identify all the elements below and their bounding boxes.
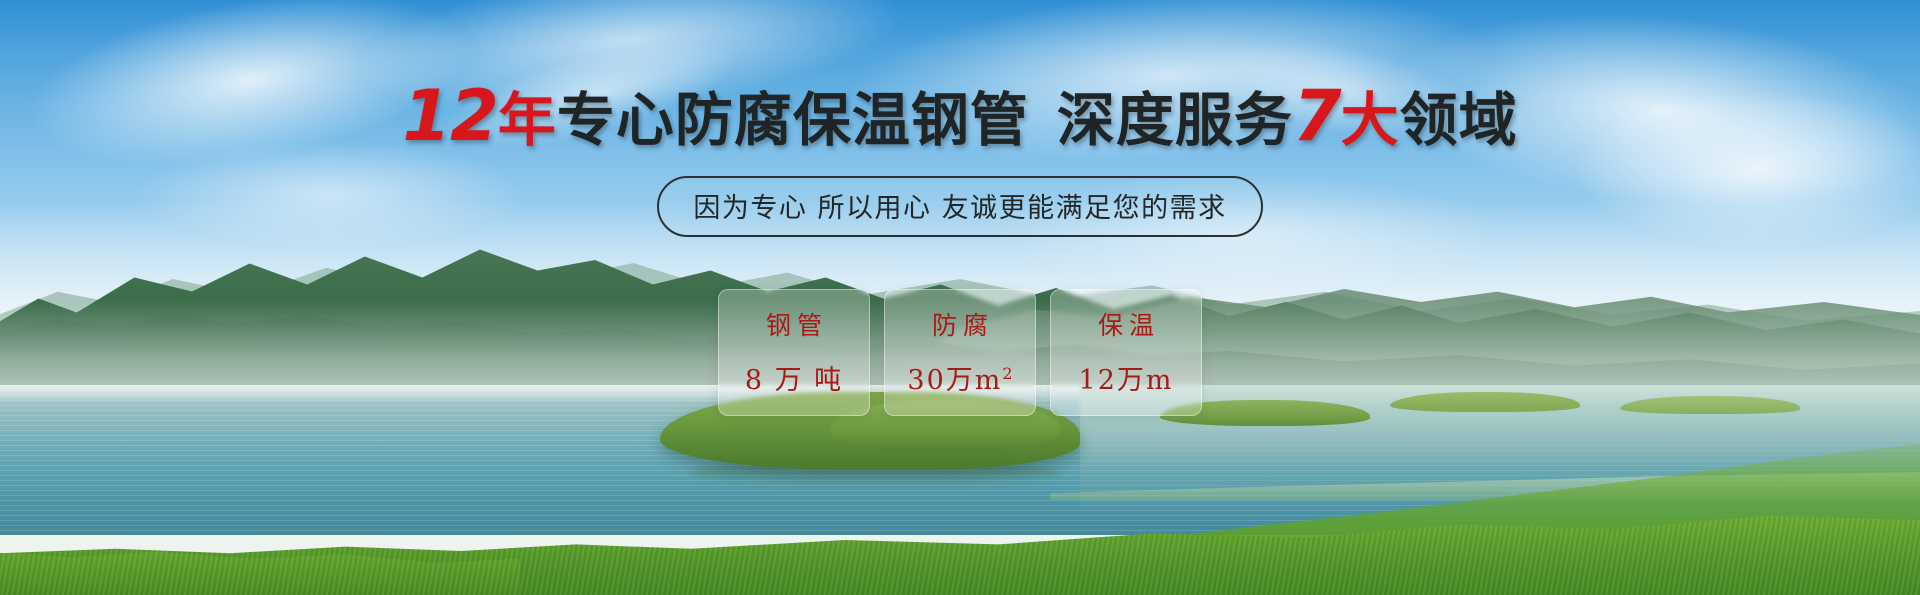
hero-banner: 12年专心防腐保温钢管深度服务7大领域 因为专心 所以用心 友诚更能满足您的需求… xyxy=(0,0,1920,595)
headline-service-text: 深度服务 xyxy=(1057,86,1293,154)
grass-islet xyxy=(1620,396,1800,414)
stat-card-steel-pipe[interactable]: 钢管 8 万 吨 xyxy=(718,289,870,416)
stat-card-label: 保温 xyxy=(1059,306,1193,342)
headline-main-text: 专心防腐保温钢管 xyxy=(557,86,1029,154)
banner-headline: 12年专心防腐保温钢管深度服务7大领域 xyxy=(402,80,1517,154)
banner-subtitle: 因为专心 所以用心 友诚更能满足您的需求 xyxy=(657,176,1262,237)
stat-card-value: 8 万 吨 xyxy=(727,358,861,397)
stat-card-anticorrosion[interactable]: 防腐 30万m2 xyxy=(884,289,1036,416)
grass-islet xyxy=(1390,392,1580,412)
headline-fields-unit: 大 xyxy=(1341,86,1400,154)
stat-card-value: 30万m2 xyxy=(893,358,1027,397)
stat-card-label: 防腐 xyxy=(893,306,1027,342)
stat-value-text: 30万m xyxy=(907,365,1002,396)
headline-years-number: 12 xyxy=(402,75,497,157)
stat-value-superscript: 2 xyxy=(1002,364,1012,383)
headline-fields-text: 领域 xyxy=(1400,86,1518,154)
headline-years-unit: 年 xyxy=(498,86,557,154)
stat-card-value: 12万m xyxy=(1059,358,1193,397)
headline-fields-number: 7 xyxy=(1293,75,1341,157)
stat-card-list: 钢管 8 万 吨 防腐 30万m2 保温 12万m xyxy=(718,289,1202,416)
stat-value-text: 8 万 吨 xyxy=(745,365,843,396)
stat-value-text: 12万m xyxy=(1079,365,1174,396)
stat-card-insulation[interactable]: 保温 12万m xyxy=(1050,289,1202,416)
stat-card-label: 钢管 xyxy=(727,306,861,342)
